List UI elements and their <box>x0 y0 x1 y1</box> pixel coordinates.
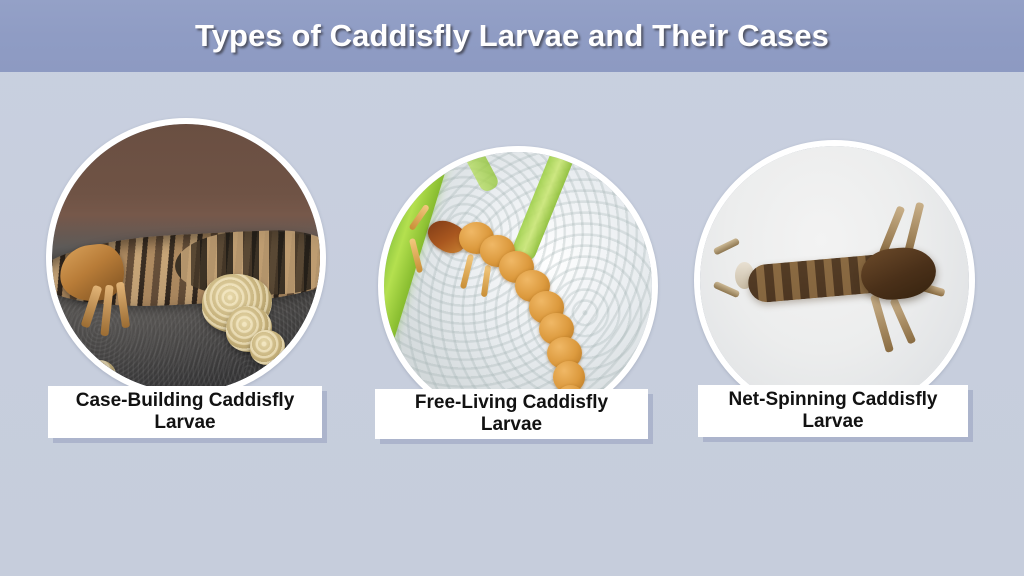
caption-card-free-living: Free-Living Caddisfly Larvae <box>375 389 648 439</box>
photo-net-spinning-image <box>700 146 969 415</box>
slide-title-bar: Types of Caddisfly Larvae and Their Case… <box>0 0 1024 72</box>
caption-label-case-building: Case-Building Caddisfly Larvae <box>56 390 314 435</box>
photo-case-building-image <box>52 124 320 392</box>
photo-case-building <box>46 118 326 398</box>
photo-net-spinning <box>694 140 975 421</box>
photo-free-living-image <box>384 152 652 420</box>
slide-canvas: Types of Caddisfly Larvae and Their Case… <box>0 0 1024 576</box>
caption-label-free-living: Free-Living Caddisfly Larvae <box>383 392 640 437</box>
page-title: Types of Caddisfly Larvae and Their Case… <box>195 18 829 54</box>
photo-free-living <box>378 146 658 426</box>
caption-card-case-building: Case-Building Caddisfly Larvae <box>48 386 322 438</box>
caption-label-net-spinning: Net-Spinning Caddisfly Larvae <box>706 389 960 434</box>
caption-card-net-spinning: Net-Spinning Caddisfly Larvae <box>698 385 968 437</box>
